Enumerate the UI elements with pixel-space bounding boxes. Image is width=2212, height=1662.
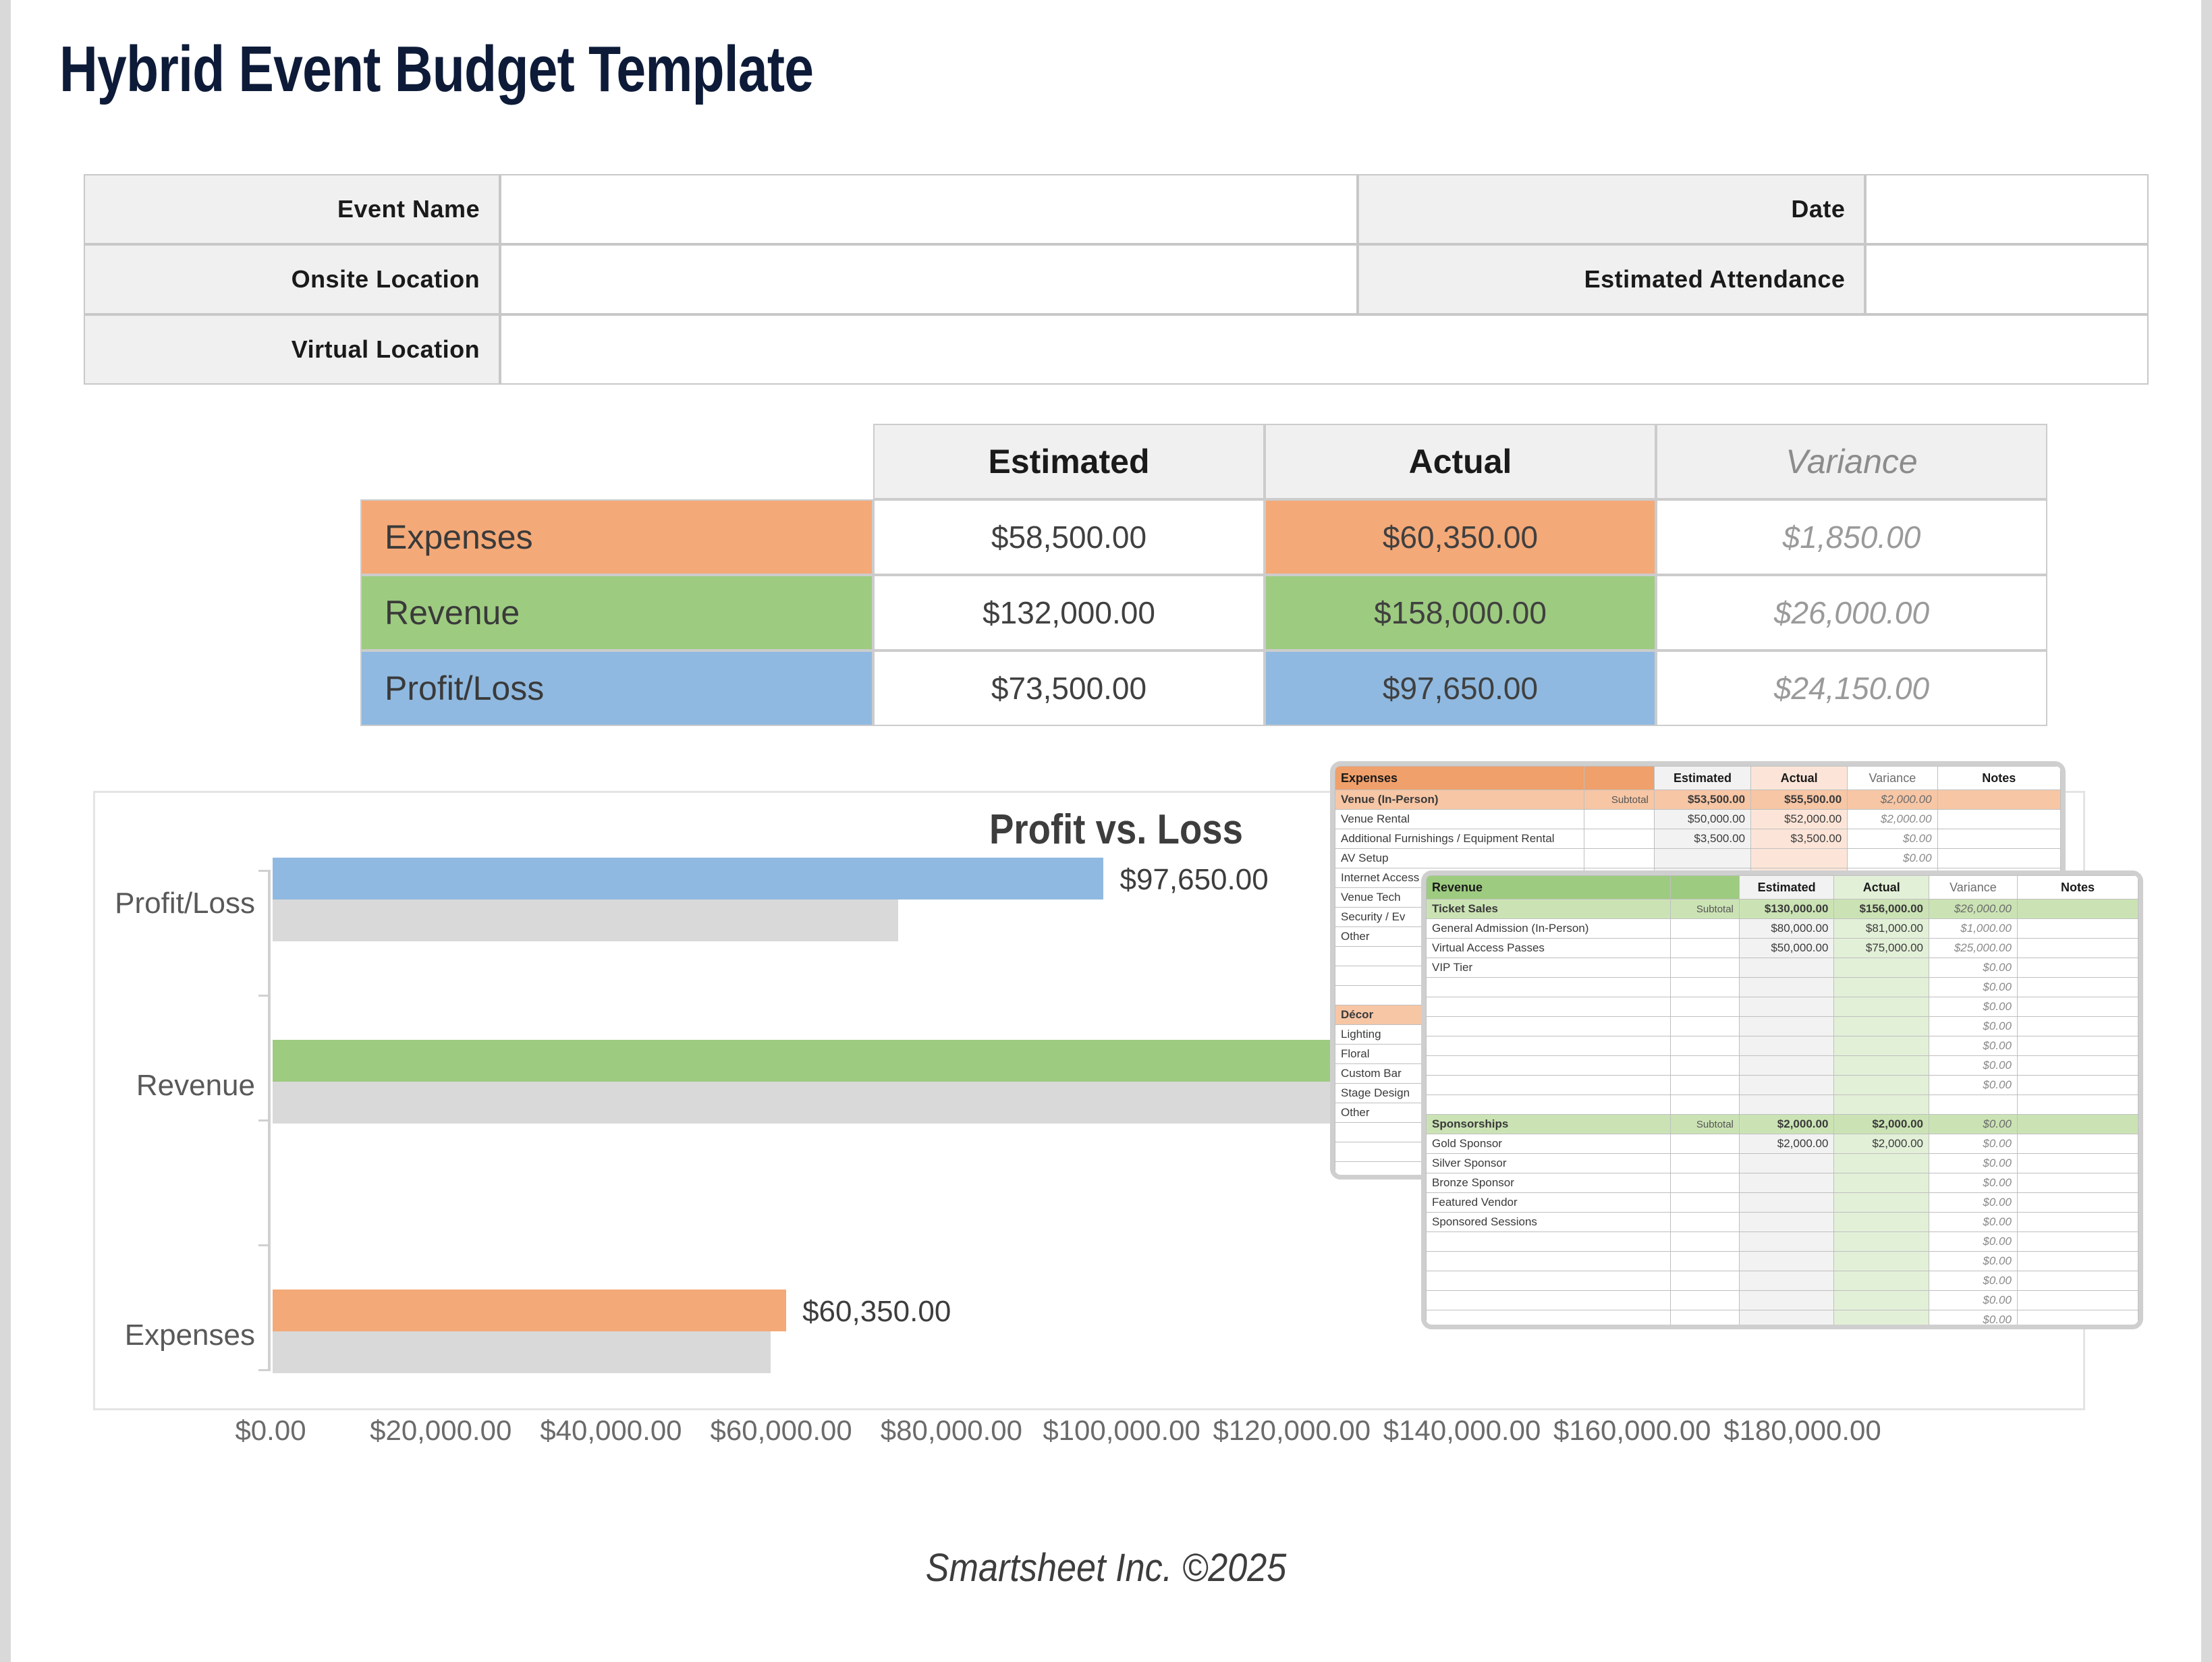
cell-act[interactable]: [1834, 1056, 1929, 1076]
cell-var[interactable]: $2,000.00: [1848, 790, 1937, 810]
summary-corner-cell: [360, 424, 873, 499]
cell-sub[interactable]: [1584, 810, 1654, 829]
cell-notes[interactable]: [2017, 978, 2138, 997]
cell-act[interactable]: [1834, 1173, 1929, 1193]
cell-name[interactable]: Ticket Sales: [1427, 899, 1671, 919]
cell-sub[interactable]: [1670, 997, 1739, 1017]
x-tick-label: $100,000.00: [1043, 1414, 1200, 1447]
cell-est[interactable]: [1739, 1213, 1834, 1232]
cell-est[interactable]: [1739, 1310, 1834, 1330]
cell-act[interactable]: [1834, 978, 1929, 997]
worksheet-row: $0.00: [1427, 1232, 2138, 1252]
cell-notes[interactable]: [2017, 1252, 2138, 1271]
x-tick-label: $120,000.00: [1213, 1414, 1371, 1447]
cell-notes[interactable]: [1937, 849, 2060, 868]
cell-notes[interactable]: [2017, 939, 2138, 958]
bar-estimated-revenue: [273, 1082, 1396, 1124]
bar-value-label: $60,350.00: [802, 1295, 951, 1329]
cell-name[interactable]: [1427, 997, 1671, 1017]
cell-sub[interactable]: [1670, 978, 1739, 997]
label-onsite-location: Onsite Location: [84, 244, 500, 314]
worksheet-row: Venue (In-Person)Subtotal$53,500.00$55,5…: [1335, 790, 2061, 810]
cell-sub[interactable]: [1670, 1291, 1739, 1310]
cell-est[interactable]: [1739, 1056, 1834, 1076]
worksheet-row: Virtual Access Passes$50,000.00$75,000.0…: [1427, 939, 2138, 958]
cell-est[interactable]: $3,500.00: [1654, 829, 1750, 849]
footer-copyright: Smartsheet Inc. ©2025: [120, 1545, 2091, 1590]
cell-act[interactable]: $75,000.00: [1834, 939, 1929, 958]
summary-header-row: Estimated Actual Variance: [360, 424, 2047, 499]
cell-est[interactable]: [1739, 1271, 1834, 1291]
cell-name[interactable]: Sponsored Sessions: [1427, 1213, 1671, 1232]
cell-name[interactable]: [1427, 1291, 1671, 1310]
cell-name[interactable]: [1427, 1036, 1671, 1056]
cell-est[interactable]: [1739, 1252, 1834, 1271]
input-estimated-attendance[interactable]: [1865, 244, 2149, 314]
cell-var[interactable]: $0.00: [1929, 1154, 2017, 1173]
worksheet-row: Bronze Sponsor$0.00: [1427, 1173, 2138, 1193]
chart-y-tick: [258, 1119, 271, 1121]
cell-sub: [1670, 876, 1739, 899]
x-tick-label: $20,000.00: [370, 1414, 511, 1447]
cell-var[interactable]: $0.00: [1929, 1017, 2017, 1036]
cell-name[interactable]: Additional Furnishings / Equipment Renta…: [1335, 829, 1584, 849]
cell-name[interactable]: [1427, 1271, 1671, 1291]
cell-est[interactable]: [1739, 1017, 1834, 1036]
document-page: Hybrid Event Budget Template Event Name …: [11, 0, 2201, 1662]
cell-var[interactable]: $0.00: [1929, 978, 2017, 997]
summary-header-estimated: Estimated: [873, 424, 1265, 499]
summary-row-expenses: Expenses $58,500.00 $60,350.00 $1,850.00: [360, 499, 2047, 575]
worksheet-row: $0.00: [1427, 1017, 2138, 1036]
summary-header-variance: Variance: [1656, 424, 2047, 499]
cell-var[interactable]: $0.00: [1929, 1115, 2017, 1134]
cell-sub[interactable]: [1670, 1173, 1739, 1193]
worksheet-row: $0.00: [1427, 1271, 2138, 1291]
summary-label-profit-loss: Profit/Loss: [360, 650, 873, 726]
cell-sub[interactable]: [1670, 1076, 1739, 1095]
worksheet-row: $0.00: [1427, 997, 2138, 1017]
cell-notes[interactable]: [1937, 829, 2060, 849]
cell-notes[interactable]: [2017, 1291, 2138, 1310]
cell-notes[interactable]: [1937, 810, 2060, 829]
cell-notes[interactable]: [1937, 790, 2060, 810]
cell-notes[interactable]: [2017, 1115, 2138, 1134]
cell-sub[interactable]: Subtotal: [1670, 899, 1739, 919]
cell-var[interactable]: $0.00: [1929, 1076, 2017, 1095]
cell-act: Actual: [1751, 767, 1848, 790]
cell-var[interactable]: $0.00: [1929, 1232, 2017, 1252]
cell-act[interactable]: [1834, 1076, 1929, 1095]
cell-sub[interactable]: [1670, 1232, 1739, 1252]
cell-var[interactable]: $1,000.00: [1929, 919, 2017, 939]
cell-act[interactable]: $52,000.00: [1751, 810, 1848, 829]
cell-name[interactable]: [1427, 1017, 1671, 1036]
cell-sub[interactable]: [1670, 1310, 1739, 1330]
cell-name[interactable]: AV Setup: [1335, 849, 1584, 868]
cell-var[interactable]: $0.00: [1929, 1291, 2017, 1310]
chart-y-tick: [258, 870, 271, 872]
cell-notes[interactable]: [2017, 899, 2138, 919]
summary-expenses-estimated: $58,500.00: [873, 499, 1265, 575]
cell-name[interactable]: [1427, 1056, 1671, 1076]
cell-sub[interactable]: [1670, 1095, 1739, 1115]
cell-notes[interactable]: [2017, 1271, 2138, 1291]
cell-act[interactable]: $2,000.00: [1834, 1115, 1929, 1134]
summary-revenue-actual: $158,000.00: [1265, 575, 1656, 650]
cell-sub[interactable]: Subtotal: [1584, 790, 1654, 810]
summary-row-revenue: Revenue $132,000.00 $158,000.00 $26,000.…: [360, 575, 2047, 650]
cell-notes[interactable]: [2017, 1056, 2138, 1076]
cell-var: Variance: [1848, 767, 1937, 790]
cell-act[interactable]: [1834, 1017, 1929, 1036]
cell-name[interactable]: General Admission (In-Person): [1427, 919, 1671, 939]
cell-est[interactable]: [1739, 1291, 1834, 1310]
cell-sub[interactable]: [1670, 1193, 1739, 1213]
cell-est[interactable]: [1739, 1076, 1834, 1095]
cell-act[interactable]: [1834, 1310, 1929, 1330]
cell-act[interactable]: [1834, 997, 1929, 1017]
cell-name[interactable]: Bronze Sponsor: [1427, 1173, 1671, 1193]
cell-act[interactable]: $2,000.00: [1834, 1134, 1929, 1154]
cell-notes[interactable]: [2017, 1036, 2138, 1056]
event-info-table: Event Name Date Onsite Location Estimate…: [84, 174, 2149, 385]
cell-est: Estimated: [1739, 876, 1834, 899]
cell-name[interactable]: Sponsorships: [1427, 1115, 1671, 1134]
cell-est[interactable]: $50,000.00: [1739, 939, 1834, 958]
worksheet-row: Gold Sponsor$2,000.00$2,000.00$0.00: [1427, 1134, 2138, 1154]
cell-var[interactable]: $0.00: [1929, 1056, 2017, 1076]
cell-notes[interactable]: [2017, 1232, 2138, 1252]
input-event-name[interactable]: [500, 174, 1358, 244]
cell-name[interactable]: Featured Vendor: [1427, 1193, 1671, 1213]
summary-revenue-estimated: $132,000.00: [873, 575, 1265, 650]
cell-est[interactable]: [1739, 1095, 1834, 1115]
chart-title: Profit vs. Loss: [989, 806, 1243, 854]
cell-est[interactable]: $2,000.00: [1739, 1115, 1834, 1134]
cell-sub[interactable]: [1670, 1017, 1739, 1036]
cell-est[interactable]: $80,000.00: [1739, 919, 1834, 939]
cell-var[interactable]: $0.00: [1929, 1134, 2017, 1154]
cell-name[interactable]: Virtual Access Passes: [1427, 939, 1671, 958]
worksheet-header-row: ExpensesEstimatedActualVarianceNotes: [1335, 767, 2061, 790]
budget-summary-table: Estimated Actual Variance Expenses $58,5…: [360, 424, 2047, 726]
cell-name[interactable]: Silver Sponsor: [1427, 1154, 1671, 1173]
chart-y-tick: [258, 1369, 271, 1371]
cell-act[interactable]: [1834, 1154, 1929, 1173]
cell-var[interactable]: $26,000.00: [1929, 899, 2017, 919]
worksheet-row: SponsorshipsSubtotal$2,000.00$2,000.00$0…: [1427, 1115, 2138, 1134]
info-row-onsite-location: Onsite Location Estimated Attendance: [84, 244, 2149, 314]
cell-est[interactable]: [1739, 1193, 1834, 1213]
worksheet-row: $0.00: [1427, 1310, 2138, 1330]
cell-name[interactable]: [1427, 1310, 1671, 1330]
cell-var[interactable]: $0.00: [1929, 1310, 2017, 1330]
cell-est[interactable]: [1739, 1036, 1834, 1056]
worksheet-row: $0.00: [1427, 1076, 2138, 1095]
cell-act[interactable]: [1834, 1213, 1929, 1232]
cell-sub[interactable]: [1670, 1213, 1739, 1232]
bar-value-label: $97,650.00: [1119, 863, 1268, 897]
summary-label-expenses: Expenses: [360, 499, 873, 575]
cell-sub[interactable]: [1670, 939, 1739, 958]
cell-est[interactable]: $2,000.00: [1739, 1134, 1834, 1154]
cell-notes[interactable]: [2017, 1134, 2138, 1154]
cell-act[interactable]: [1834, 1193, 1929, 1213]
cell-act[interactable]: [1834, 1095, 1929, 1115]
cell-notes[interactable]: [2017, 997, 2138, 1017]
cell-sub: [1584, 767, 1654, 790]
cell-act[interactable]: $3,500.00: [1751, 829, 1848, 849]
cell-sub[interactable]: [1584, 849, 1654, 868]
cell-act[interactable]: $55,500.00: [1751, 790, 1848, 810]
cell-name[interactable]: Gold Sponsor: [1427, 1134, 1671, 1154]
cell-name[interactable]: VIP Tier: [1427, 958, 1671, 978]
input-date[interactable]: [1865, 174, 2149, 244]
info-row-event-name: Event Name Date: [84, 174, 2149, 244]
summary-revenue-variance: $26,000.00: [1656, 575, 2047, 650]
worksheet-row: $0.00: [1427, 1036, 2138, 1056]
page-title: Hybrid Event Budget Template: [59, 32, 813, 107]
cell-name[interactable]: [1427, 1232, 1671, 1252]
cell-name[interactable]: [1427, 1076, 1671, 1095]
cell-name[interactable]: [1427, 1095, 1671, 1115]
cell-var[interactable]: $0.00: [1848, 829, 1937, 849]
cell-name[interactable]: [1427, 978, 1671, 997]
cell-sub[interactable]: Subtotal: [1670, 1115, 1739, 1134]
x-tick-label: $80,000.00: [881, 1414, 1022, 1447]
worksheet-row: Ticket SalesSubtotal$130,000.00$156,000.…: [1427, 899, 2138, 919]
chart-y-tick: [258, 995, 271, 997]
cell-notes: Notes: [1937, 767, 2060, 790]
cell-name[interactable]: Venue Rental: [1335, 810, 1584, 829]
summary-profit-loss-variance: $24,150.00: [1656, 650, 2047, 726]
cell-name[interactable]: [1427, 1252, 1671, 1271]
worksheet-row: VIP Tier$0.00: [1427, 958, 2138, 978]
cell-act[interactable]: [1834, 1271, 1929, 1291]
cell-var[interactable]: $25,000.00: [1929, 939, 2017, 958]
cell-sub[interactable]: [1670, 1252, 1739, 1271]
revenue-worksheet-table: RevenueEstimatedActualVarianceNotesTicke…: [1426, 875, 2138, 1329]
cell-sub[interactable]: [1670, 1056, 1739, 1076]
cell-est[interactable]: [1739, 1173, 1834, 1193]
cell-notes[interactable]: [2017, 1193, 2138, 1213]
cell-var[interactable]: $0.00: [1929, 1252, 2017, 1271]
label-virtual-location: Virtual Location: [84, 314, 500, 385]
cell-var: Variance: [1929, 876, 2017, 899]
summary-expenses-actual: $60,350.00: [1265, 499, 1656, 575]
chart-category-label-expenses: Expenses: [113, 1319, 255, 1352]
cell-est[interactable]: $50,000.00: [1654, 810, 1750, 829]
x-tick-label: $140,000.00: [1383, 1414, 1541, 1447]
cell-act[interactable]: $156,000.00: [1834, 899, 1929, 919]
cell-notes[interactable]: [2017, 958, 2138, 978]
x-tick-label: $40,000.00: [540, 1414, 682, 1447]
cell-var[interactable]: $0.00: [1929, 958, 2017, 978]
revenue-worksheet-panel[interactable]: RevenueEstimatedActualVarianceNotesTicke…: [1421, 870, 2143, 1329]
cell-act[interactable]: [1834, 1232, 1929, 1252]
label-event-name: Event Name: [84, 174, 500, 244]
cell-name: Revenue: [1427, 876, 1671, 899]
cell-notes[interactable]: [2017, 1173, 2138, 1193]
cell-act[interactable]: [1834, 1252, 1929, 1271]
cell-notes[interactable]: [2017, 1154, 2138, 1173]
cell-notes[interactable]: [2017, 1076, 2138, 1095]
cell-sub[interactable]: [1584, 829, 1654, 849]
chart-y-tick: [258, 1244, 271, 1246]
cell-notes[interactable]: [2017, 1095, 2138, 1115]
cell-sub[interactable]: [1670, 1036, 1739, 1056]
cell-var[interactable]: $0.00: [1929, 997, 2017, 1017]
bar-actual-profit-loss: [273, 858, 1103, 899]
worksheet-header-row: RevenueEstimatedActualVarianceNotes: [1427, 876, 2138, 899]
summary-profit-loss-estimated: $73,500.00: [873, 650, 1265, 726]
cell-est[interactable]: [1739, 997, 1834, 1017]
cell-name[interactable]: Venue (In-Person): [1335, 790, 1584, 810]
cell-var[interactable]: $2,000.00: [1848, 810, 1937, 829]
summary-header-actual: Actual: [1265, 424, 1656, 499]
cell-est[interactable]: [1739, 958, 1834, 978]
cell-notes[interactable]: [2017, 1017, 2138, 1036]
worksheet-row: $0.00: [1427, 978, 2138, 997]
worksheet-row: Venue Rental$50,000.00$52,000.00$2,000.0…: [1335, 810, 2061, 829]
cell-act[interactable]: [1834, 958, 1929, 978]
cell-var[interactable]: $0.00: [1929, 1036, 2017, 1056]
worksheet-row: $0.00: [1427, 1056, 2138, 1076]
worksheet-row: $0.00: [1427, 1291, 2138, 1310]
chart-category-label-profit-loss: Profit/Loss: [113, 887, 255, 920]
cell-est[interactable]: [1739, 978, 1834, 997]
input-virtual-location[interactable]: [500, 314, 2149, 385]
chart-category-label-revenue: Revenue: [113, 1069, 255, 1103]
bar-estimated-expenses: [273, 1331, 771, 1373]
cell-var[interactable]: $0.00: [1848, 849, 1937, 868]
worksheet-row: Silver Sponsor$0.00: [1427, 1154, 2138, 1173]
cell-var[interactable]: $0.00: [1929, 1271, 2017, 1291]
x-tick-label: $160,000.00: [1553, 1414, 1711, 1447]
x-tick-label: $180,000.00: [1723, 1414, 1881, 1447]
worksheet-row: $0.00: [1427, 1252, 2138, 1271]
cell-sub[interactable]: [1670, 1271, 1739, 1291]
x-tick-label: $0.00: [235, 1414, 306, 1447]
summary-profit-loss-actual: $97,650.00: [1265, 650, 1656, 726]
cell-sub[interactable]: [1670, 958, 1739, 978]
cell-var[interactable]: [1929, 1095, 2017, 1115]
worksheet-row: General Admission (In-Person)$80,000.00$…: [1427, 919, 2138, 939]
cell-est[interactable]: $53,500.00: [1654, 790, 1750, 810]
summary-label-revenue: Revenue: [360, 575, 873, 650]
input-onsite-location[interactable]: [500, 244, 1358, 314]
cell-var[interactable]: $0.00: [1929, 1173, 2017, 1193]
worksheet-row: AV Setup$0.00: [1335, 849, 2061, 868]
cell-est[interactable]: [1739, 1232, 1834, 1252]
cell-sub[interactable]: [1670, 1154, 1739, 1173]
cell-sub[interactable]: [1670, 919, 1739, 939]
cell-notes[interactable]: [2017, 919, 2138, 939]
label-estimated-attendance: Estimated Attendance: [1358, 244, 1865, 314]
x-tick-label: $60,000.00: [711, 1414, 852, 1447]
cell-act[interactable]: [1834, 1291, 1929, 1310]
summary-expenses-variance: $1,850.00: [1656, 499, 2047, 575]
cell-notes[interactable]: [2017, 1310, 2138, 1330]
cell-est[interactable]: [1739, 1154, 1834, 1173]
chart-x-axis-labels: $0.00$20,000.00$40,000.00$60,000.00$80,0…: [11, 1414, 2201, 1455]
cell-var[interactable]: $0.00: [1929, 1213, 2017, 1232]
cell-sub[interactable]: [1670, 1134, 1739, 1154]
cell-act: Actual: [1834, 876, 1929, 899]
label-date: Date: [1358, 174, 1865, 244]
cell-name: Expenses: [1335, 767, 1584, 790]
cell-var[interactable]: $0.00: [1929, 1193, 2017, 1213]
cell-act[interactable]: [1751, 849, 1848, 868]
bar-estimated-profit-loss: [273, 899, 898, 941]
worksheet-row: Featured Vendor$0.00: [1427, 1193, 2138, 1213]
cell-act[interactable]: $81,000.00: [1834, 919, 1929, 939]
bar-actual-expenses: [273, 1290, 786, 1331]
cell-notes[interactable]: [2017, 1213, 2138, 1232]
cell-est[interactable]: [1654, 849, 1750, 868]
cell-notes: Notes: [2017, 876, 2138, 899]
cell-act[interactable]: [1834, 1036, 1929, 1056]
cell-est[interactable]: $130,000.00: [1739, 899, 1834, 919]
info-row-virtual-location: Virtual Location: [84, 314, 2149, 385]
worksheet-row: Additional Furnishings / Equipment Renta…: [1335, 829, 2061, 849]
cell-est: Estimated: [1654, 767, 1750, 790]
worksheet-row: [1427, 1095, 2138, 1115]
worksheet-row: Sponsored Sessions$0.00: [1427, 1213, 2138, 1232]
summary-row-profit-loss: Profit/Loss $73,500.00 $97,650.00 $24,15…: [360, 650, 2047, 726]
